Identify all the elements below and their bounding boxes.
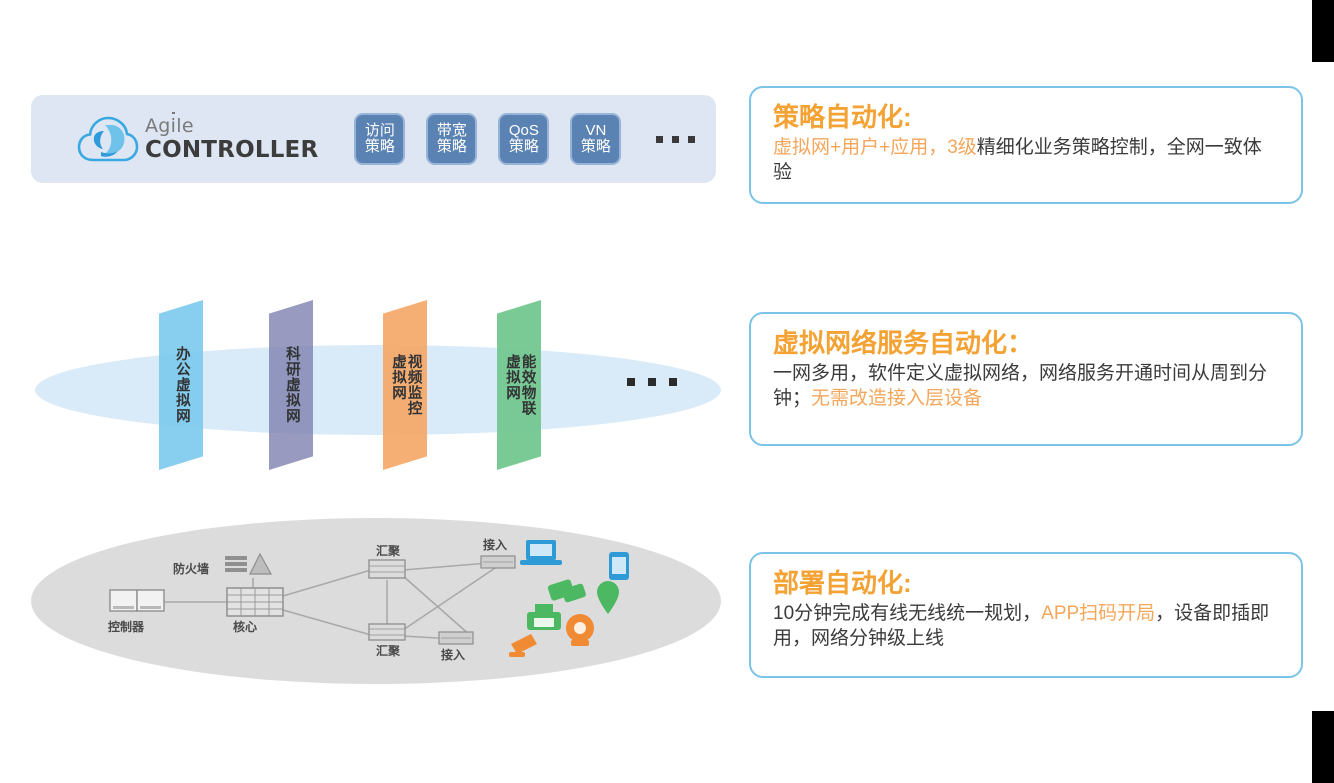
plane-label-iot-main: 能效物联 — [519, 354, 535, 416]
panel-body-highlight-vn: 无需改造接入层设备 — [811, 388, 982, 409]
endpoint-wireless-ap-icon — [547, 579, 587, 603]
topology-label-controller: 控制器 — [108, 618, 144, 635]
panel-title-policy-automation: 策略自动化: — [773, 102, 1279, 133]
virtual-network-more-ellipsis-icon — [627, 378, 677, 386]
policy-chip-bandwidth[interactable]: 带宽 策略 — [426, 113, 477, 165]
feature-panel-virtual-network-service-automation: 虚拟网络服务自动化： 一网多用，软件定义虚拟网络，网络服务开通时间从周到分钟；无… — [749, 312, 1303, 446]
endpoint-laptop-icon — [520, 540, 562, 565]
topology-links — [164, 562, 501, 640]
right-edge-bar-bottom — [1312, 711, 1334, 783]
logo-agile-text: Agile — [145, 117, 318, 136]
topology-label-core: 核心 — [233, 618, 257, 635]
plane-label-video-sub: 虚拟网 — [389, 354, 405, 416]
feature-panel-policy-automation: 策略自动化: 虚拟网+用户+应用，3级精细化业务策略控制，全网一致体验 — [749, 86, 1303, 204]
topology-label-aggregation-lower: 汇聚 — [376, 642, 400, 659]
topology-label-firewall: 防火墙 — [173, 560, 209, 577]
logo-controller-text: CONTROLLER — [145, 139, 318, 162]
panel-title-deployment-automation: 部署自动化: — [773, 568, 1279, 599]
panel-body-highlight-deploy: APP扫码开局 — [1041, 603, 1155, 624]
agile-controller-logo: Agile CONTROLLER — [77, 113, 318, 165]
panel-body-policy-automation: 虚拟网+用户+应用，3级精细化业务策略控制，全网一致体验 — [773, 135, 1279, 185]
topology-node-firewall — [225, 554, 271, 574]
policy-chip-qos-line2: 策略 — [509, 139, 539, 155]
topology-node-access-lower — [439, 632, 473, 644]
policy-chip-vn-line1: VN — [585, 123, 606, 139]
policy-chip-qos-line1: QoS — [509, 123, 539, 139]
policy-chip-vn-line2: 策略 — [581, 139, 611, 155]
topology-node-access-upper — [481, 556, 515, 568]
panel-body-highlight-policy: 虚拟网+用户+应用，3级 — [773, 137, 977, 158]
policy-chip-access-line2: 策略 — [365, 139, 395, 155]
policy-chip-access[interactable]: 访问 策略 — [354, 113, 405, 165]
policy-chip-access-line1: 访问 — [365, 123, 395, 139]
topology-label-aggregation-upper: 汇聚 — [376, 542, 400, 559]
endpoint-printer-icon — [527, 604, 561, 630]
endpoint-tablet-icon — [609, 552, 629, 580]
panel-title-vn-service-automation: 虚拟网络服务自动化： — [773, 328, 1279, 359]
logo-wordmark: Agile CONTROLLER — [145, 117, 318, 162]
endpoint-camera-bullet-icon — [509, 634, 537, 657]
topology-node-aggregation-upper — [369, 560, 405, 578]
policy-more-ellipsis-icon — [656, 136, 695, 143]
virtual-network-plane-office: 办公虚拟网 — [159, 300, 203, 470]
virtual-network-ellipse — [35, 345, 721, 435]
plane-label-research-main: 科研虚拟网 — [283, 346, 299, 424]
policy-chip-vn[interactable]: VN 策略 — [570, 113, 621, 165]
virtual-network-diagram: 办公虚拟网 科研虚拟网 视频监控 虚拟网 能效物联 虚拟网 — [31, 290, 721, 490]
right-edge-bar-top — [1312, 0, 1334, 62]
network-topology-diagram: 控制器 防火墙 核心 汇聚 汇聚 接入 接入 — [31, 518, 721, 688]
topology-node-controller — [110, 590, 164, 611]
topology-label-access-upper: 接入 — [483, 536, 507, 553]
topology-label-access-lower: 接入 — [441, 646, 465, 663]
topology-node-core — [227, 588, 283, 616]
policy-chip-list: 访问 策略 带宽 策略 QoS 策略 VN 策略 — [354, 113, 695, 165]
plane-label-office-main: 办公虚拟网 — [173, 346, 189, 424]
policy-chip-bandwidth-line2: 策略 — [437, 139, 467, 155]
panel-body-vn-service-automation: 一网多用，软件定义虚拟网络，网络服务开通时间从周到分钟；无需改造接入层设备 — [773, 361, 1279, 411]
policy-chip-qos[interactable]: QoS 策略 — [498, 113, 549, 165]
panel-body-lead-deploy: 10分钟完成有线无线统一规划， — [773, 603, 1041, 624]
endpoint-camera-dome-icon — [566, 614, 594, 646]
policy-chip-bandwidth-line1: 带宽 — [437, 123, 467, 139]
plane-label-iot-sub: 虚拟网 — [503, 354, 519, 416]
endpoint-sensor-icon — [597, 581, 619, 614]
plane-label-video-main: 视频监控 — [405, 354, 421, 416]
panel-body-deployment-automation: 10分钟完成有线无线统一规划，APP扫码开局，设备即插即用，网络分钟级上线 — [773, 601, 1279, 651]
cloud-icon — [77, 113, 139, 165]
virtual-network-plane-video: 视频监控 虚拟网 — [383, 300, 427, 470]
topology-node-aggregation-lower — [369, 624, 405, 640]
feature-panel-deployment-automation: 部署自动化: 10分钟完成有线无线统一规划，APP扫码开局，设备即插即用，网络分… — [749, 552, 1303, 678]
agile-controller-bar: Agile CONTROLLER 访问 策略 带宽 策略 QoS 策略 VN 策… — [31, 95, 716, 183]
virtual-network-plane-research: 科研虚拟网 — [269, 300, 313, 470]
virtual-network-plane-iot: 能效物联 虚拟网 — [497, 300, 541, 470]
slide-canvas: Agile CONTROLLER 访问 策略 带宽 策略 QoS 策略 VN 策… — [0, 0, 1334, 783]
